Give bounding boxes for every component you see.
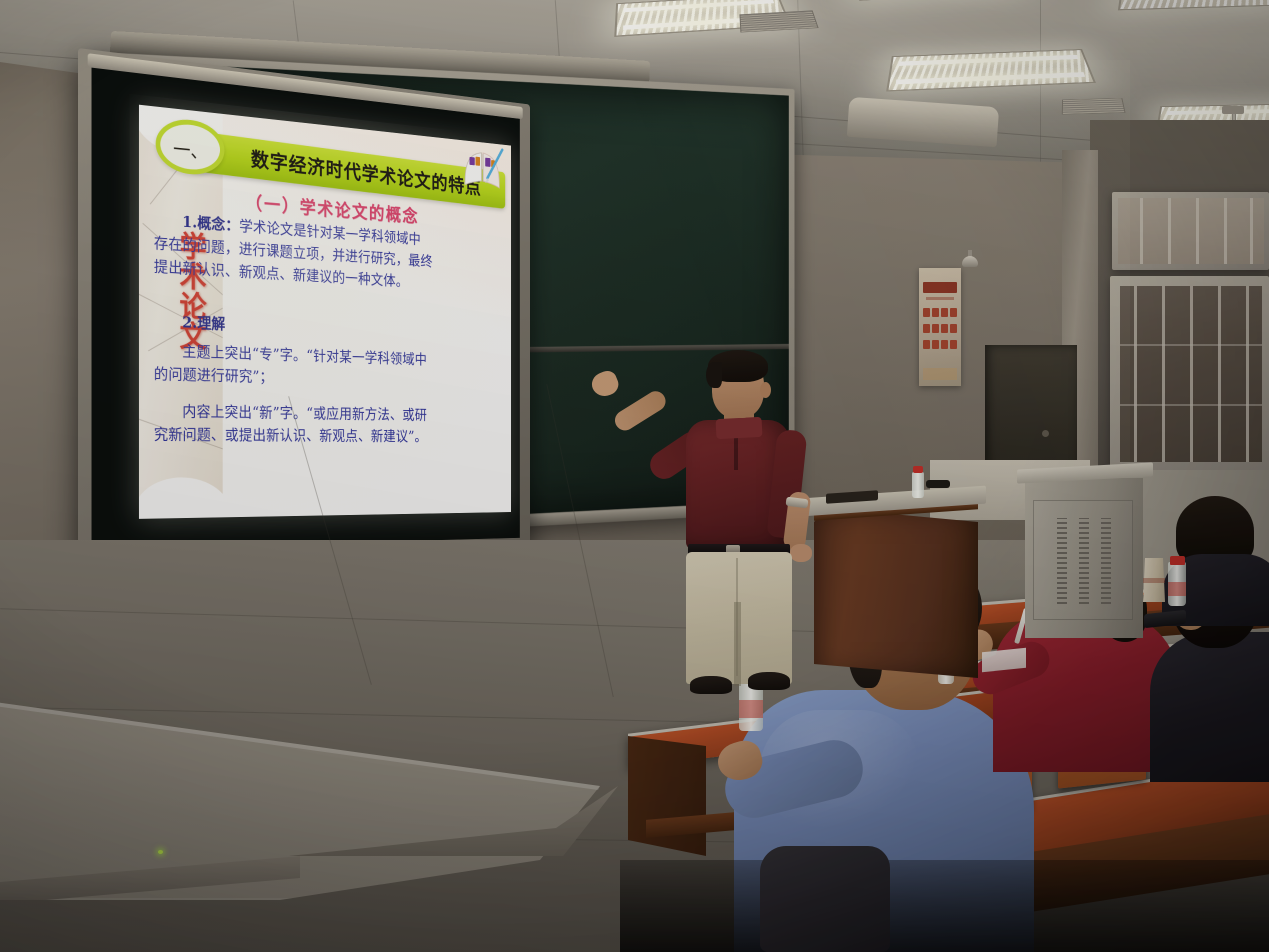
slide-paragraph-label: 2.理解 (182, 313, 225, 333)
audience-torso (1150, 632, 1269, 782)
presenter (660, 352, 850, 702)
slide-paragraph: 主题上突出“专”字。“针对某一学科领域中的问题进行研究”； (154, 339, 433, 392)
desk-end-panel (628, 736, 706, 856)
slide-section-marker: 一、 (160, 133, 220, 165)
security-camera-icon (962, 256, 978, 267)
lecture-hall-scene: 学术论文 数字经济时代学术论文的特点 一、 (0, 0, 1269, 952)
foreground-shadow (620, 860, 1269, 952)
poster-character-row (923, 324, 957, 333)
water-bottle (912, 472, 924, 498)
bottle-label (1168, 582, 1186, 596)
laser-pointer-dot (158, 850, 163, 854)
bottle-label (739, 700, 763, 718)
presenter-shoe (690, 676, 732, 694)
cabinet-vent (1079, 518, 1089, 604)
slide-paragraph-label: 1.概念： (182, 212, 239, 234)
ceiling-mount-base (1222, 106, 1244, 114)
poster-footer-band (923, 368, 957, 380)
slide-paragraph-text: 内容上突出“新”字。“或应用新方法、或研究新问题、或提出新认识、新观点、新建议”… (154, 403, 427, 445)
poster-title-band (923, 282, 957, 293)
projection-screen: 学术论文 数字经济时代学术论文的特点 一、 (78, 48, 530, 563)
poster-subtitle (926, 297, 954, 300)
book-and-pen-icon (460, 144, 506, 194)
trouser-leg-gap (734, 602, 741, 686)
slide-paragraph: 内容上突出“新”字。“或应用新方法、或研究新问题、或提出新认识、新观点、新建议”… (154, 399, 433, 447)
poster-character-row (923, 308, 957, 317)
ribbon-bottom-shape (139, 477, 223, 519)
cabinet-vent (1057, 518, 1067, 604)
bottle-cap (913, 466, 923, 473)
av-equipment-cabinet (1025, 478, 1143, 638)
poster-character-row (923, 340, 957, 349)
projected-slide: 学术论文 数字经济时代学术论文的特点 一、 (139, 105, 511, 519)
presenter-hair (706, 362, 722, 388)
presenter-hand (790, 544, 812, 562)
ceiling-air-vent (1062, 98, 1126, 115)
lectern-object (926, 480, 950, 488)
bag-on-floor (760, 846, 890, 952)
window-transom-glass (1118, 198, 1264, 264)
window-glass (1120, 286, 1262, 462)
presenter-shoe (748, 672, 790, 690)
wall-poster (919, 268, 961, 386)
bottle-cap (1170, 556, 1185, 565)
slide-paragraph-text: 主题上突出“专”字。“针对某一学科领域中的问题进行研究”； (154, 343, 427, 386)
screen-surface: 学术论文 数字经济时代学术论文的特点 一、 (92, 68, 520, 550)
paper-cup-band (1143, 578, 1165, 583)
presenter-collar (716, 417, 763, 439)
cabinet-vent (1101, 518, 1111, 604)
door-knob[interactable] (1042, 430, 1049, 437)
hand-shadow-on-screen (513, 452, 520, 547)
presenter-ear (760, 382, 771, 398)
